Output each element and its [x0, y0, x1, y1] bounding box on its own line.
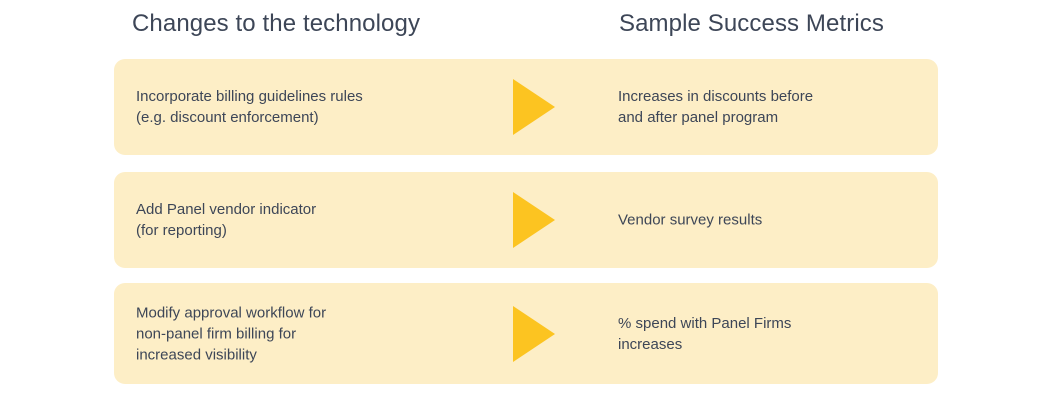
column-header-changes: Changes to the technology [132, 8, 420, 40]
triangle-right-icon [512, 78, 556, 136]
success-metric: Vendor survey results [618, 210, 918, 231]
triangle-right-icon [512, 305, 556, 363]
triangle-right-icon [512, 191, 556, 249]
change-description: Add Panel vendor indicator (for reportin… [136, 199, 518, 241]
change-description: Modify approval workflow for non-panel f… [136, 302, 518, 365]
technology-changes-metrics-diagram: Changes to the technology Sample Success… [0, 0, 1052, 401]
column-header-metrics: Sample Success Metrics [619, 8, 884, 40]
success-metric: Increases in discounts before and after … [618, 86, 918, 128]
row-band: Modify approval workflow for non-panel f… [114, 283, 938, 384]
row-band: Add Panel vendor indicator (for reportin… [114, 172, 938, 268]
change-description: Incorporate billing guidelines rules (e.… [136, 86, 518, 128]
success-metric: % spend with Panel Firms increases [618, 313, 918, 355]
row-band: Incorporate billing guidelines rules (e.… [114, 59, 938, 155]
column-headers: Changes to the technology Sample Success… [0, 0, 1052, 52]
